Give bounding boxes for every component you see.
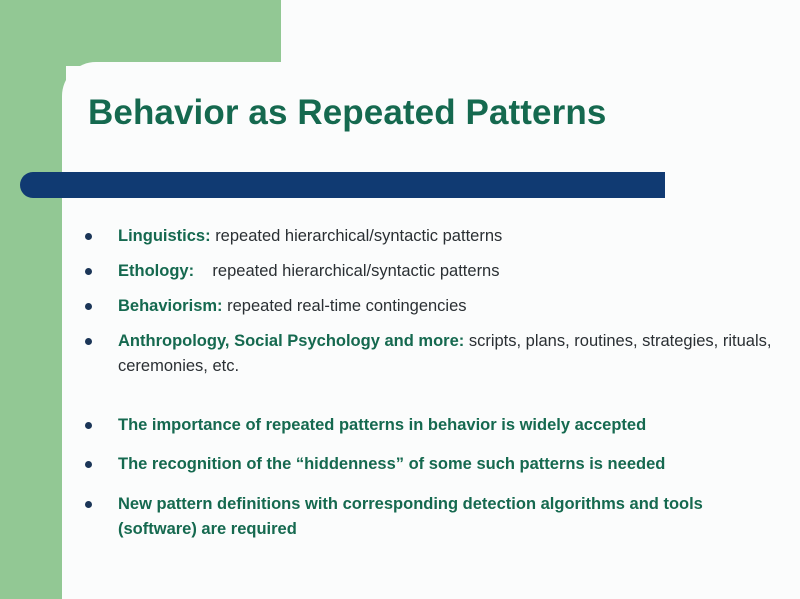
bullet-dot-icon bbox=[85, 422, 92, 429]
bullet-dot-icon bbox=[85, 233, 92, 240]
green-band-left-decoration bbox=[0, 0, 66, 599]
bullet-list-conclusions: The importance of repeated patterns in b… bbox=[78, 413, 784, 541]
bullet-dot-icon bbox=[85, 303, 92, 310]
slide: Behavior as Repeated Patterns Linguistic… bbox=[0, 0, 800, 599]
bullet-dot-icon bbox=[85, 268, 92, 275]
list-item: The recognition of the “hiddenness” of s… bbox=[78, 452, 784, 477]
bullet-text: New pattern definitions with correspondi… bbox=[118, 495, 703, 538]
bullet-text: The recognition of the “hiddenness” of s… bbox=[118, 455, 665, 473]
list-item: New pattern definitions with correspondi… bbox=[78, 492, 784, 542]
bullet-dot-icon bbox=[85, 501, 92, 508]
bullet-text: repeated hierarchical/syntactic patterns bbox=[215, 227, 502, 245]
list-item: The importance of repeated patterns in b… bbox=[78, 413, 784, 438]
bullet-text: repeated hierarchical/syntactic patterns bbox=[212, 262, 499, 280]
bullet-dot-icon bbox=[85, 461, 92, 468]
list-item: Anthropology, Social Psychology and more… bbox=[78, 329, 784, 379]
slide-body: Linguistics: repeated hierarchical/synta… bbox=[78, 224, 784, 556]
bullet-list-disciplines: Linguistics: repeated hierarchical/synta… bbox=[78, 224, 784, 379]
bullet-lead: Anthropology, Social Psychology and more… bbox=[118, 332, 464, 350]
navy-accent-bar bbox=[20, 172, 665, 198]
list-item: Ethology: repeated hierarchical/syntacti… bbox=[78, 259, 784, 284]
slide-title: Behavior as Repeated Patterns bbox=[88, 93, 748, 132]
bullet-lead: Ethology: bbox=[118, 262, 194, 280]
bullet-gap bbox=[194, 262, 212, 280]
bullet-lead: Behaviorism: bbox=[118, 297, 223, 315]
bullet-dot-icon bbox=[85, 338, 92, 345]
bullet-text: repeated real-time contingencies bbox=[227, 297, 466, 315]
bullet-lead: Linguistics: bbox=[118, 227, 211, 245]
bullet-text: The importance of repeated patterns in b… bbox=[118, 416, 646, 434]
list-item: Linguistics: repeated hierarchical/synta… bbox=[78, 224, 784, 249]
list-item: Behaviorism: repeated real-time continge… bbox=[78, 294, 784, 319]
